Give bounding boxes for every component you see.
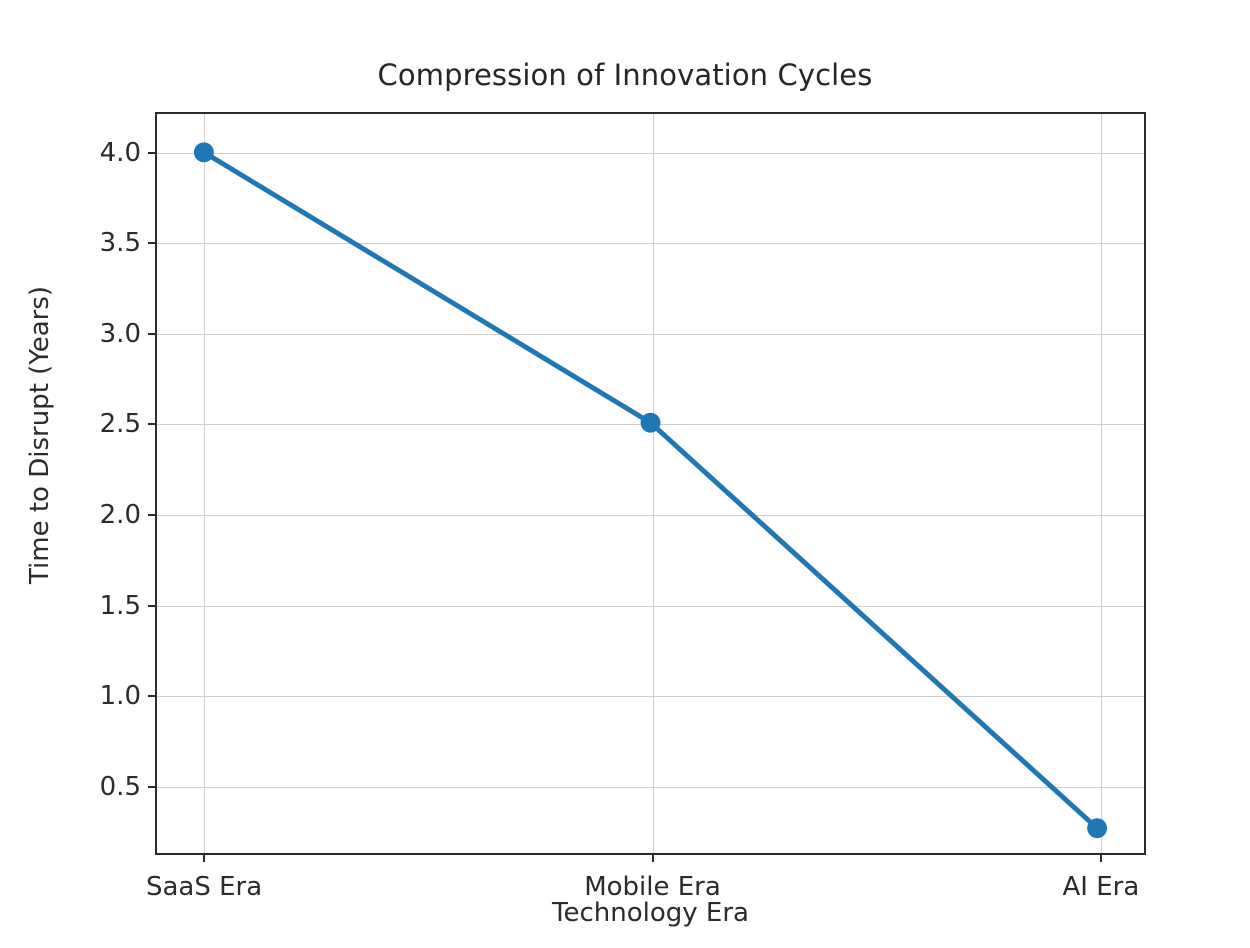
data-series-layer bbox=[157, 114, 1144, 853]
y-tick-mark bbox=[148, 423, 157, 425]
y-tick-label: 2.5 bbox=[100, 409, 141, 439]
y-tick-label: 3.0 bbox=[100, 319, 141, 349]
plot-area: 0.51.01.52.02.53.03.54.0 SaaS EraMobile … bbox=[155, 112, 1146, 855]
y-tick-mark bbox=[148, 514, 157, 516]
y-tick-mark bbox=[148, 605, 157, 607]
data-point-marker bbox=[1087, 818, 1107, 838]
data-point-marker bbox=[194, 142, 214, 162]
y-tick-label: 4.0 bbox=[100, 138, 141, 168]
data-point-marker bbox=[641, 413, 661, 433]
y-tick-label: 3.5 bbox=[100, 228, 141, 258]
y-tick-label: 1.5 bbox=[100, 591, 141, 621]
y-tick-mark bbox=[148, 333, 157, 335]
y-tick-label: 2.0 bbox=[100, 500, 141, 530]
y-tick-mark bbox=[148, 695, 157, 697]
y-tick-mark bbox=[148, 152, 157, 154]
chart-figure: Compression of Innovation Cycles 0.51.01… bbox=[0, 0, 1250, 948]
y-tick-label: 1.0 bbox=[100, 681, 141, 711]
x-tick-mark bbox=[203, 853, 205, 862]
y-tick-mark bbox=[148, 786, 157, 788]
x-tick-mark bbox=[1100, 853, 1102, 862]
chart-title: Compression of Innovation Cycles bbox=[0, 58, 1250, 92]
x-axis-label: Technology Era bbox=[155, 898, 1146, 928]
x-tick-mark bbox=[652, 853, 654, 862]
y-tick-label: 0.5 bbox=[100, 772, 141, 802]
y-tick-mark bbox=[148, 242, 157, 244]
series-line-time-to-disrupt bbox=[204, 152, 1097, 828]
y-axis-label: Time to Disrupt (Years) bbox=[25, 135, 55, 735]
series-markers bbox=[194, 142, 1107, 838]
